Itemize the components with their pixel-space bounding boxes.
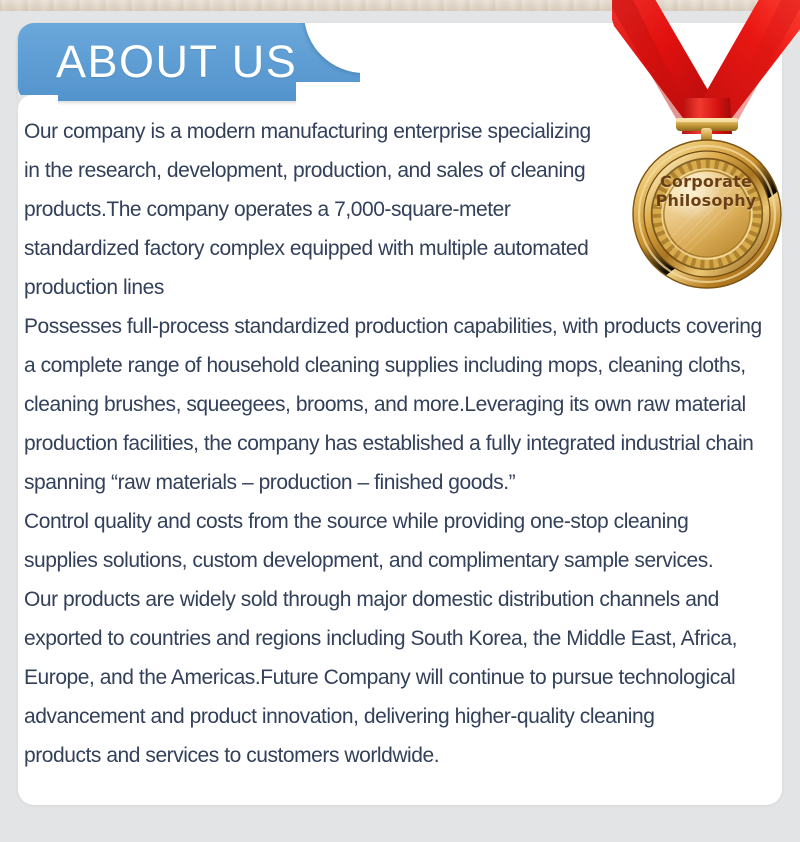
paragraph-1: Our company is a modern manufacturing en… (24, 112, 776, 307)
about-us-body: Our company is a modern manufacturing en… (24, 112, 776, 775)
header-tab-curve-lower (296, 82, 376, 116)
text-line: standardized factory complex equipped wi… (24, 229, 776, 268)
text-line: cleaning brushes, squeegees, brooms, and… (24, 385, 776, 424)
text-line: supplies solutions, custom development, … (24, 541, 776, 580)
text-line: production facilities, the company has e… (24, 424, 776, 463)
text-line: exported to countries and regions includ… (24, 619, 776, 658)
text-line: Possesses full-process standardized prod… (24, 307, 776, 346)
paragraph-2: Possesses full-process standardized prod… (24, 307, 776, 502)
text-line: spanning “raw materials – production – f… (24, 463, 776, 502)
text-line: Europe, and the Americas.Future Company … (24, 658, 776, 697)
text-line: advancement and product innovation, deli… (24, 697, 776, 736)
text-line: Our company is a modern manufacturing en… (24, 112, 776, 151)
text-line: production lines (24, 268, 776, 307)
page-title: ABOUT US (18, 23, 297, 101)
text-line: products.The company operates a 7,000-sq… (24, 190, 776, 229)
about-us-header-tab: ABOUT US (18, 23, 333, 101)
paragraph-3: Control quality and costs from the sourc… (24, 502, 776, 775)
page-stage: ABOUT US (0, 0, 800, 842)
text-line: in the research, development, production… (24, 151, 776, 190)
text-line: a complete range of household cleaning s… (24, 346, 776, 385)
text-line: Control quality and costs from the sourc… (24, 502, 776, 541)
text-line: Our products are widely sold through maj… (24, 580, 776, 619)
wood-texture-strip (0, 0, 800, 11)
text-line: products and services to customers world… (24, 736, 776, 775)
